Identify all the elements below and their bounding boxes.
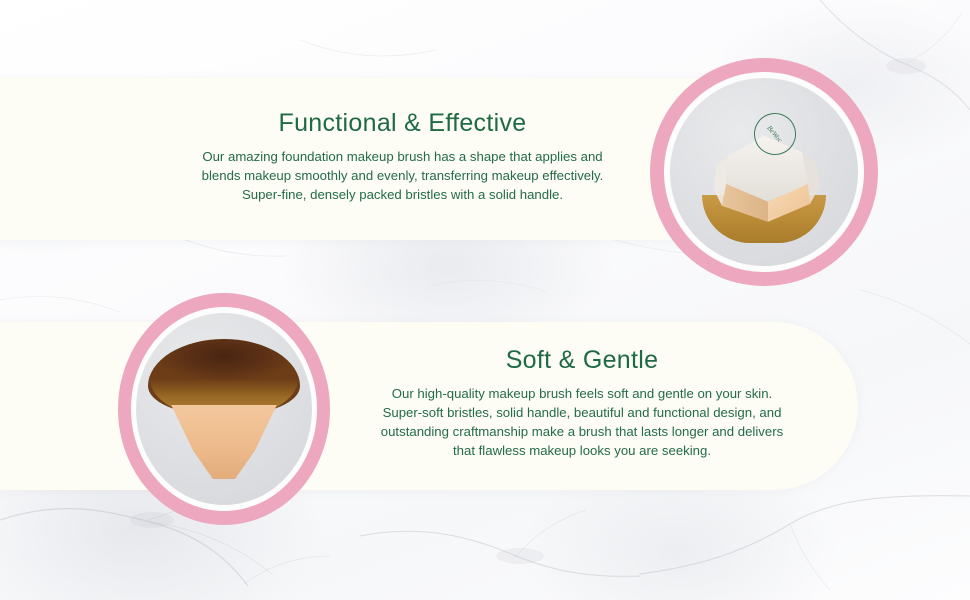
product-photo-inverted-brush: BeWoc <box>650 58 878 286</box>
text-block-functional: Functional & Effective Our amazing found… <box>195 110 610 204</box>
brand-logo-text: BeWoc <box>766 124 784 144</box>
photo-image-top: BeWoc <box>670 78 859 267</box>
text-block-soft: Soft & Gentle Our high-quality makeup br… <box>372 347 792 460</box>
product-feature-banner: Functional & Effective Our amazing found… <box>0 0 970 600</box>
paragraph-soft: Our high-quality makeup brush feels soft… <box>372 384 792 460</box>
paragraph-functional: Our amazing foundation makeup brush has … <box>195 147 610 204</box>
brush-faceted-handle <box>169 405 279 479</box>
brush-upright-group <box>148 339 300 479</box>
photo-ring-gap-bottom <box>131 307 318 511</box>
heading-functional: Functional & Effective <box>195 110 610 138</box>
heading-soft: Soft & Gentle <box>372 347 792 375</box>
product-photo-upright-brush <box>118 293 330 525</box>
photo-image-bottom <box>136 313 311 505</box>
photo-ring-gap: BeWoc <box>664 72 865 273</box>
